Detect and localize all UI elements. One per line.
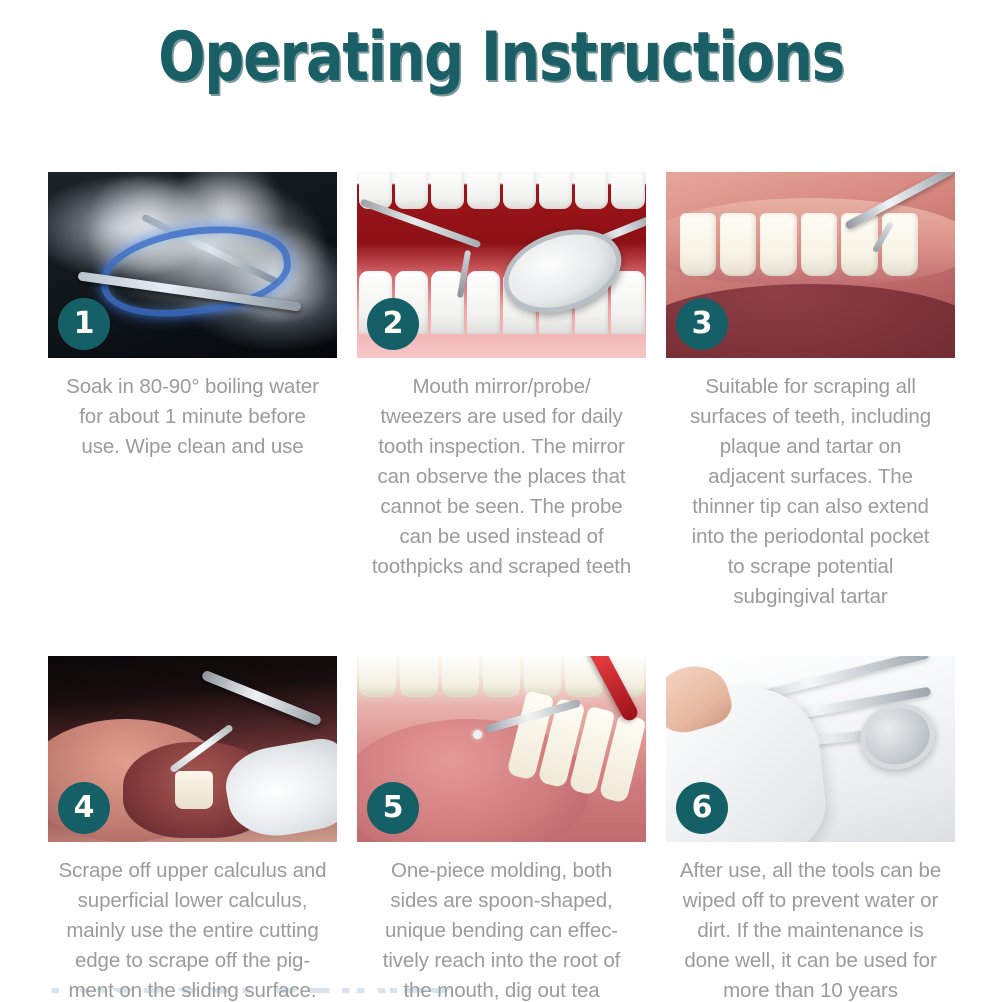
- step-number-badge: 4: [58, 782, 110, 834]
- page-title-wrap: Operating Instructions: [0, 24, 1002, 92]
- page-title: Operating Instructions: [158, 24, 843, 92]
- steps-grid: 1 Soak in 80-90° boiling water for about…: [48, 172, 956, 1002]
- step-caption: One-piece molding, both sides are spoon-…: [357, 856, 646, 1002]
- step-2-photo: 2: [357, 172, 646, 358]
- step-number-badge: 5: [367, 782, 419, 834]
- retractor-shape: [201, 670, 323, 727]
- step-card-6: 6 After use, all the tools can be wiped …: [666, 656, 955, 1002]
- bottom-cutoff-strip: PRODUCT DETAILS: [48, 988, 608, 1002]
- step-caption: Mouth mirror/probe/ tweezers are used fo…: [357, 372, 646, 582]
- teeth-row: [678, 213, 921, 276]
- step-1-photo: 1: [48, 172, 337, 358]
- step-number-badge: 3: [676, 298, 728, 350]
- step-number-badge: 6: [676, 782, 728, 834]
- upper-teeth-row: [357, 172, 646, 209]
- step-number-badge: 1: [58, 298, 110, 350]
- step-card-4: 4 Scrape off upper calculus and superfic…: [48, 656, 337, 1002]
- tooth-shape: [175, 771, 213, 808]
- step-4-photo: 4: [48, 656, 337, 842]
- step-3-photo: 3: [666, 172, 955, 358]
- step-card-3: 3 Suitable for scraping all surfaces of …: [666, 172, 955, 612]
- pick-tip-shape: [473, 730, 482, 739]
- step-card-1: 1 Soak in 80-90° boiling water for about…: [48, 172, 337, 462]
- bottom-cutoff-text: PRODUCT DETAILS: [48, 988, 454, 1000]
- step-5-photo: 5: [357, 656, 646, 842]
- operating-instructions-page: Operating Instructions 1 Soak in 80-90: [0, 0, 1002, 1002]
- step-card-5: 5 One-piece molding, both sides are spoo…: [357, 656, 646, 1002]
- step-caption: Suitable for scraping all surfaces of te…: [666, 372, 955, 612]
- step-card-2: 2 Mouth mirror/probe/ tweezers are used …: [357, 172, 646, 582]
- steps-row-2: 4 Scrape off upper calculus and superfic…: [48, 656, 956, 1002]
- step-caption: Scrape off upper calculus and superficia…: [48, 856, 337, 1002]
- steps-row-1: 1 Soak in 80-90° boiling water for about…: [48, 172, 956, 612]
- step-6-photo: 6: [666, 656, 955, 842]
- step-caption: Soak in 80-90° boiling water for about 1…: [48, 372, 337, 462]
- step-caption: After use, all the tools can be wiped of…: [666, 856, 955, 1002]
- step-number-badge: 2: [367, 298, 419, 350]
- dental-mirror-shape: [852, 695, 942, 778]
